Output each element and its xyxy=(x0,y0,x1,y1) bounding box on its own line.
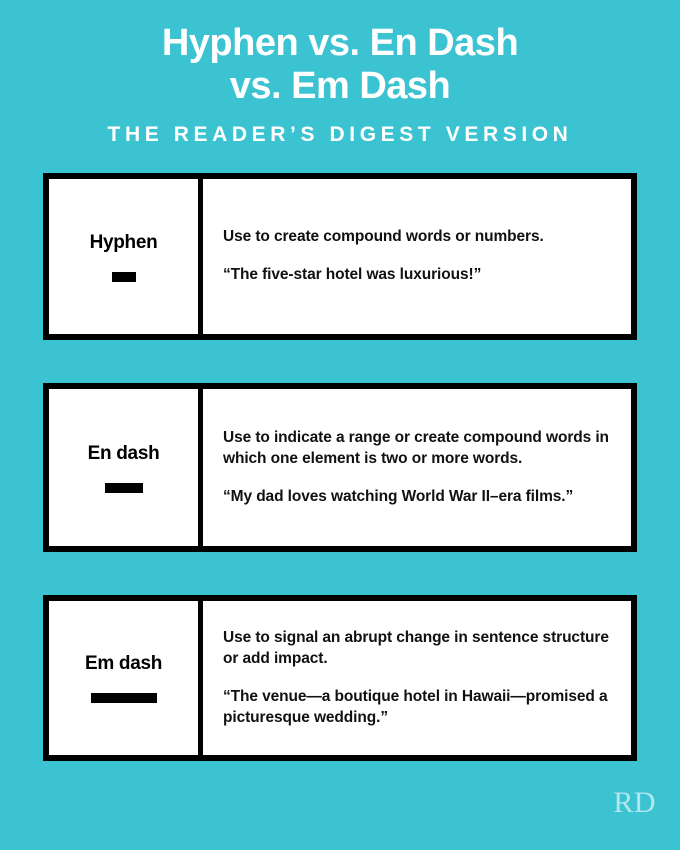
hyphen-mark-icon xyxy=(112,272,136,282)
dash-card-em-dash: Em dash Use to signal an abrupt change i… xyxy=(43,595,637,761)
dash-card-hyphen-content-panel: Use to create compound words or numbers.… xyxy=(203,179,631,334)
dash-card-hyphen-description: Use to create compound words or numbers. xyxy=(223,227,615,248)
dash-card-em-dash-content-panel: Use to signal an abrupt change in senten… xyxy=(203,601,631,755)
infographic-header: Hyphen vs. En Dash vs. Em Dash THE READE… xyxy=(0,0,680,147)
dash-card-en-dash-description: Use to indicate a range or create compou… xyxy=(223,428,615,470)
dash-card-em-dash-description: Use to signal an abrupt change in senten… xyxy=(223,628,615,670)
page-title: Hyphen vs. En Dash vs. Em Dash xyxy=(0,22,680,107)
dash-card-em-dash-label: Em dash xyxy=(85,653,162,675)
page-title-line-2: vs. Em Dash xyxy=(40,65,640,108)
em-dash-mark-icon xyxy=(91,693,157,703)
en-dash-mark-icon xyxy=(105,483,143,493)
dash-card-em-dash-label-panel: Em dash xyxy=(49,601,203,755)
dash-card-en-dash-label: En dash xyxy=(88,443,160,465)
dash-card-em-dash-example: “The venue—a boutique hotel in Hawaii—pr… xyxy=(223,687,615,729)
dash-card-hyphen-label: Hyphen xyxy=(90,232,158,254)
dash-card-en-dash: En dash Use to indicate a range or creat… xyxy=(43,383,637,552)
dash-card-hyphen-label-panel: Hyphen xyxy=(49,179,203,334)
page-title-line-1: Hyphen vs. En Dash xyxy=(40,22,640,65)
dash-card-hyphen-example: “The five-star hotel was luxurious!” xyxy=(223,265,615,286)
dash-card-en-dash-content-panel: Use to indicate a range or create compou… xyxy=(203,389,631,546)
readers-digest-logo: RD xyxy=(613,788,656,818)
page-subtitle: THE READER’S DIGEST VERSION xyxy=(0,123,680,147)
dash-card-en-dash-example: “My dad loves watching World War II–era … xyxy=(223,487,615,508)
dash-card-en-dash-label-panel: En dash xyxy=(49,389,203,546)
dash-comparison-list: Hyphen Use to create compound words or n… xyxy=(0,173,680,761)
dash-card-hyphen: Hyphen Use to create compound words or n… xyxy=(43,173,637,340)
